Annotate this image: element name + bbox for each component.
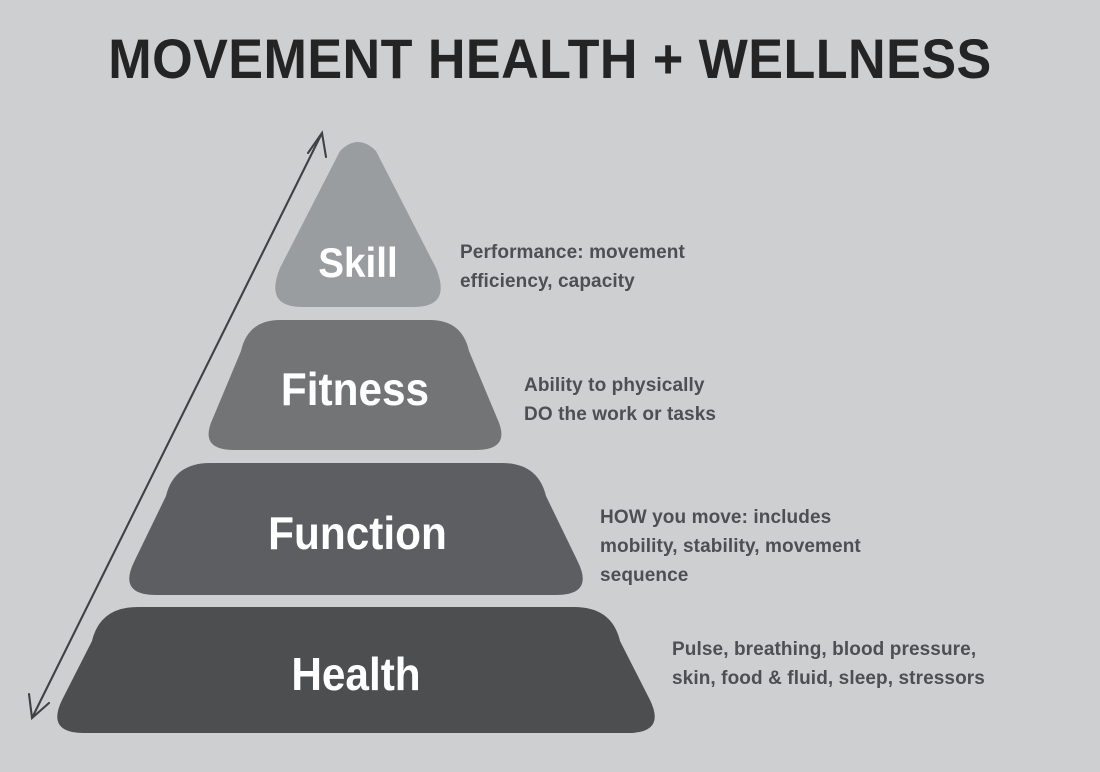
tier-description-fitness: Ability to physically DO the work or tas… (524, 371, 854, 429)
diagram-canvas: MOVEMENT HEALTH + WELLNESS Skill Fitness… (0, 0, 1100, 772)
tier-description-skill: Performance: movement efficiency, capaci… (460, 238, 780, 296)
tier-label-fitness: Fitness (212, 362, 497, 416)
tier-description-health: Pulse, breathing, blood pressure, skin, … (672, 635, 1072, 693)
tier-description-function: HOW you move: includes mobility, stabili… (600, 503, 960, 590)
tier-label-function: Function (144, 506, 572, 560)
tier-label-skill: Skill (280, 239, 436, 287)
tier-label-health: Health (74, 647, 637, 701)
